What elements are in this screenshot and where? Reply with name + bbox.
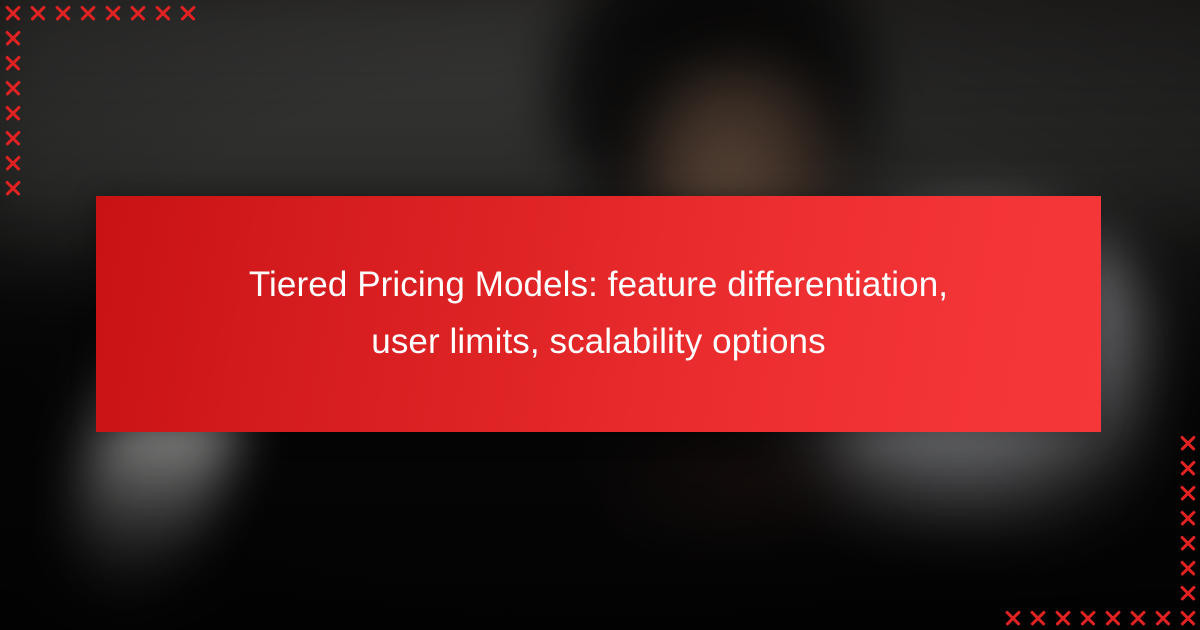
social-card: Tiered Pricing Models: feature different… (0, 0, 1200, 630)
page-title: Tiered Pricing Models: feature different… (189, 257, 1009, 370)
title-banner: Tiered Pricing Models: feature different… (96, 196, 1101, 432)
background-highlight-center (580, 410, 900, 560)
